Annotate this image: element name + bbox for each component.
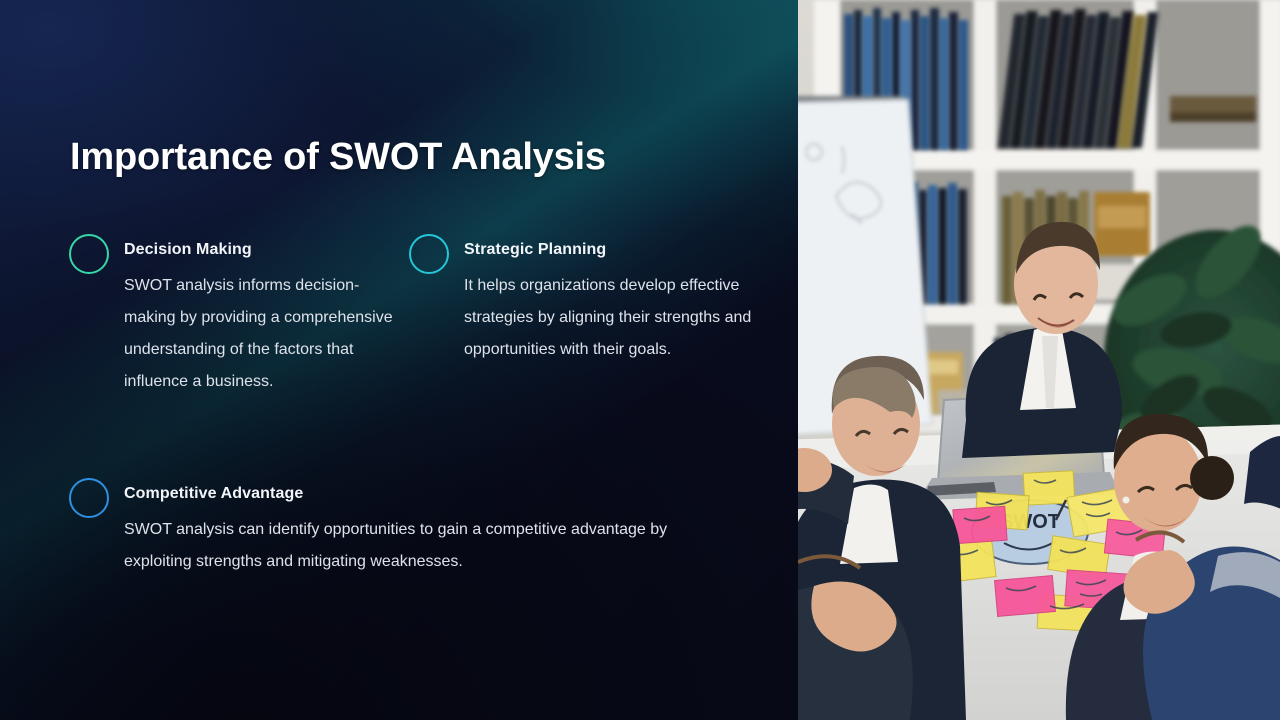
content-layer: Importance of SWOT Analysis Decision Mak… — [0, 0, 798, 720]
circle-outline-icon — [409, 234, 449, 274]
meeting-photo: SWOT — [798, 0, 1280, 720]
feature-heading: Strategic Planning — [464, 241, 606, 259]
left-content-panel: Importance of SWOT Analysis Decision Mak… — [0, 0, 798, 720]
feature-body: SWOT analysis can identify opportunities… — [124, 514, 734, 578]
page-title: Importance of SWOT Analysis — [70, 136, 606, 179]
meeting-photo-illustration: SWOT — [798, 0, 1280, 720]
feature-body: SWOT analysis informs decision-making by… — [124, 270, 400, 398]
feature-body: It helps organizations develop effective… — [464, 270, 752, 366]
feature-heading: Competitive Advantage — [124, 485, 303, 503]
circle-outline-icon — [69, 234, 109, 274]
circle-outline-icon — [69, 478, 109, 518]
feature-heading: Decision Making — [124, 241, 252, 259]
slide-root: Importance of SWOT Analysis Decision Mak… — [0, 0, 1280, 720]
